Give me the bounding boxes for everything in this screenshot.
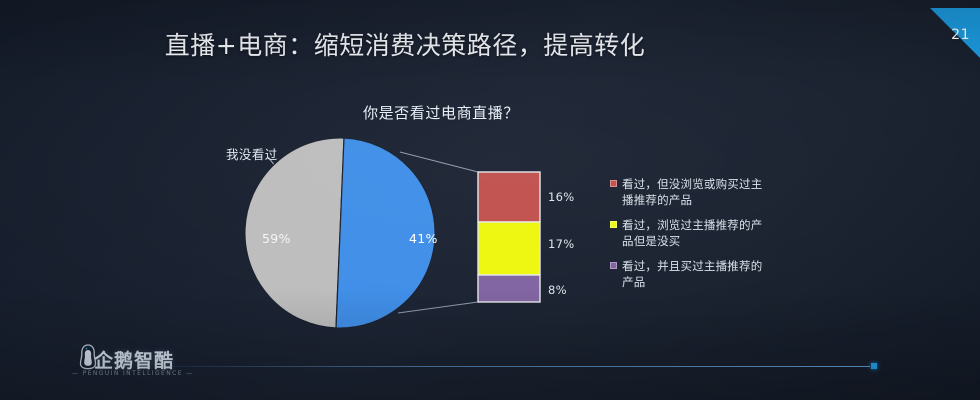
slide-canvas: 直播+电商：缩短消费决策路径，提高转化 21 你是否看过电商直播？ — [0, 0, 980, 400]
pie-slice-not-watched — [245, 138, 344, 328]
bar-value-red: 16% — [548, 190, 574, 204]
brand-name-cn: 企鹅智酷 — [94, 346, 174, 373]
legend-swatch-purple — [610, 262, 617, 269]
bar-segment-red — [478, 172, 540, 222]
legend-item: 看过，但没浏览或购买过主播推荐的产品 — [610, 176, 910, 208]
pie-value-watched: 41% — [409, 231, 438, 246]
bar-value-purple: 8% — [548, 283, 567, 297]
footer-accent-dot — [871, 363, 877, 369]
legend-swatch-yellow — [610, 221, 617, 228]
legend-swatch-red — [610, 180, 617, 187]
legend-item: 看过，浏览过主播推荐的产品但是没买 — [610, 217, 910, 249]
pie-value-not-watched: 59% — [262, 231, 291, 246]
stacked-bar — [478, 172, 540, 302]
legend-label: 看过，但没浏览或购买过主播推荐的产品 — [622, 176, 770, 208]
brand-logo: 企鹅智酷 — PENGUIN INTELLIGENCE — — [72, 344, 172, 384]
bar-segment-yellow — [478, 222, 540, 275]
legend-label: 看过，并且买过主播推荐的产品 — [622, 258, 770, 290]
footer-divider — [170, 366, 870, 367]
bar-value-yellow: 17% — [548, 237, 574, 251]
chart-legend: 看过，但没浏览或购买过主播推荐的产品 看过，浏览过主播推荐的产品但是没买 看过，… — [610, 176, 910, 299]
legend-item: 看过，并且买过主播推荐的产品 — [610, 258, 910, 290]
pie-callout-label-not-watched: 我没看过 — [226, 144, 278, 163]
brand-name-en: — PENGUIN INTELLIGENCE — — [72, 370, 194, 377]
bar-segment-purple — [478, 275, 540, 302]
legend-label: 看过，浏览过主播推荐的产品但是没买 — [622, 217, 770, 249]
